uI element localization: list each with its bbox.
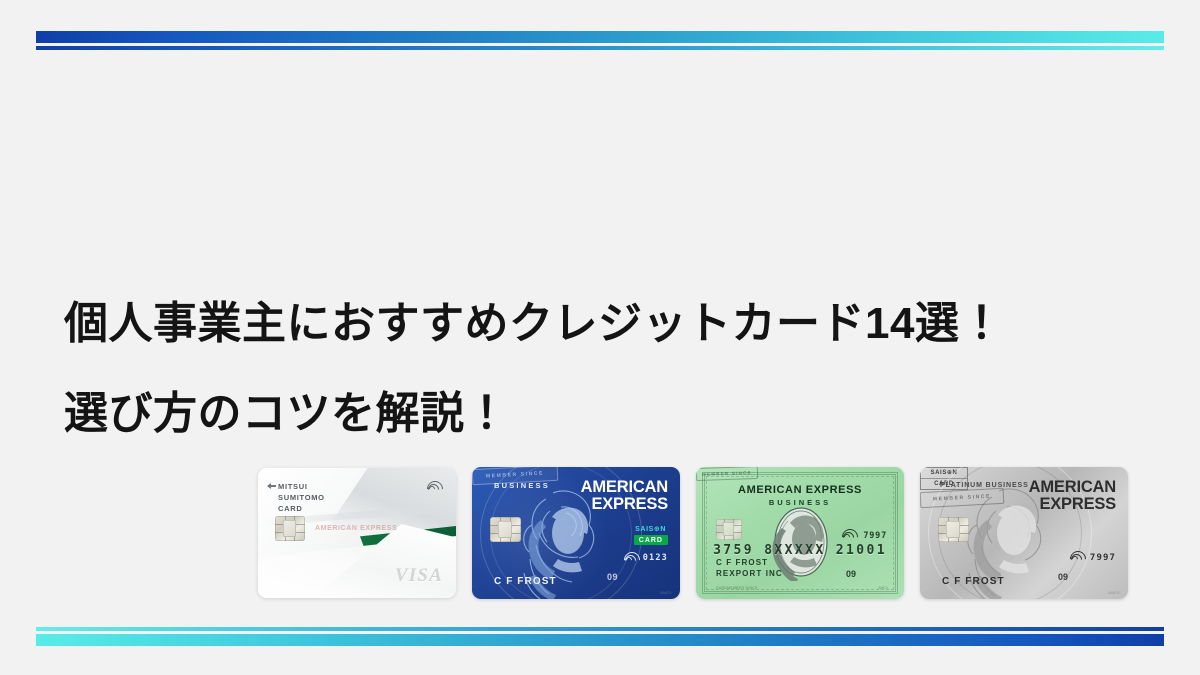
page-title-line-1: 個人事業主におすすめクレジットカード14選！ [64,279,1144,369]
arrow-icon [267,483,276,489]
card-amex-business-green[interactable]: AMERICAN EXPRESS BUSINESS [696,467,904,599]
chip-icon [716,519,742,540]
contactless-icon [429,481,443,495]
card4-member-since-year: 09 [1058,572,1068,582]
top-gradient-rule [36,31,1164,50]
card2-member-since-year: 09 [607,572,618,582]
card4-fine-print: AMEX [1108,591,1120,595]
bottom-gradient-rule [36,627,1164,646]
bottom-rule-thick [36,634,1164,646]
card-mitsui-sumitomo[interactable]: MITSUI SUMITOMO CARD AMERICAN EXPRESS VI… [258,468,456,598]
card2-saison-label: SAIS⊕N [635,525,666,533]
card-saison-platinum-business-amex[interactable]: PLATINUM BUSINESS AMERICAN EXPRESS SAIS⊕… [920,467,1128,599]
card2-holder-name: C F FROST [494,576,557,587]
contactless-icon [626,552,640,566]
bottom-rule-thin [36,627,1164,631]
credit-card-gallery: MITSUI SUMITOMO CARD AMERICAN EXPRESS VI… [258,462,1158,604]
contactless-icon [844,529,858,543]
card3-member-since-year: 09 [846,569,856,579]
card4-cvv: 7997 [1090,553,1116,563]
card3-amex-logo: AMERICAN EXPRESS [696,484,904,496]
card2-number: 0123 [643,553,668,563]
card3-fine-print: CARDMEMBER SINCE [716,586,758,590]
page-title-line-2: 選び方のコツを解説！ [64,369,1144,459]
card2-fine-print: AMEX [660,591,672,595]
page-title: 個人事業主におすすめクレジットカード14選！ 選び方のコツを解説！ [64,279,1144,459]
chip-icon [490,517,521,542]
card3-number: 3759 8XXXXX 21001 [696,543,904,558]
card4-holder-name: C F FROST [942,576,1005,587]
card1-brand-label: MITSUI SUMITOMO CARD [278,481,325,514]
chip-icon [275,516,305,541]
card-saison-amex-business-blue[interactable]: BUSINESS AMERICAN EXPRESS SAIS⊕N CARD 01… [472,467,680,599]
card4-amex-logo: AMERICAN EXPRESS [1029,479,1116,513]
visa-logo: VISA [395,565,443,587]
top-rule-thick [36,31,1164,43]
card3-corner-print: AMEX [878,586,888,590]
contactless-icon [1072,551,1086,565]
card3-member-since-banner: MEMBER SINCE [696,467,758,481]
card2-amex-logo: AMERICAN EXPRESS [581,479,668,513]
chip-icon [938,517,969,542]
card2-card-badge: CARD [634,535,668,545]
card3-holder-name: C F FROST REXPORT INC [716,557,783,579]
card3-cvv: 7997 [863,531,887,541]
card1-amex-faint-label: AMERICAN EXPRESS [315,525,397,532]
slide-root: 個人事業主におすすめクレジットカード14選！ 選び方のコツを解説！ MITSUI… [0,0,1200,675]
top-rule-thin [36,46,1164,50]
